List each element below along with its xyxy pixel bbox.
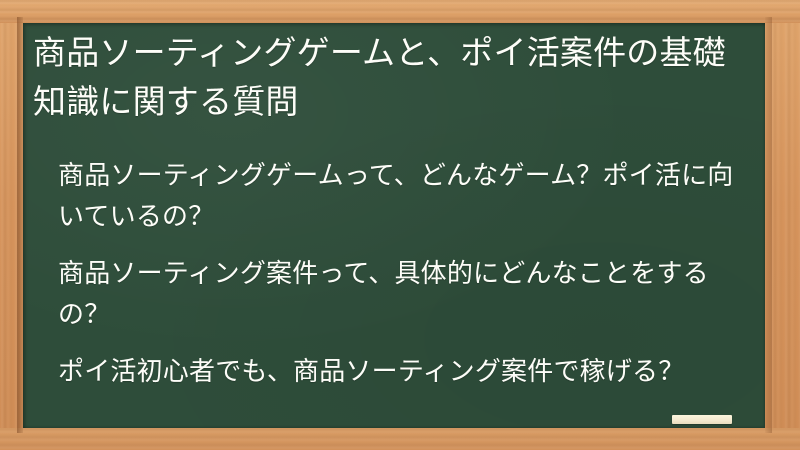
faq-question-item: 商品ソーティング案件って、具体的にどんなことをするの？ [58, 253, 748, 335]
faq-question-item: ポイ活初心者でも、商品ソーティング案件で稼げる？ [58, 351, 748, 392]
blackboard-frame: 商品ソーティングゲームと、ポイ活案件の基礎知識に関する質問 商品ソーティングゲー… [0, 0, 800, 450]
board-content: 商品ソーティングゲームと、ポイ活案件の基礎知識に関する質問 商品ソーティングゲー… [23, 23, 765, 428]
chalk-stick [672, 415, 732, 424]
faq-question-item: 商品ソーティングゲームって、どんなゲーム？ポイ活に向いているの？ [58, 155, 748, 237]
faq-title: 商品ソーティングゲームと、ポイ活案件の基礎知識に関する質問 [33, 28, 749, 126]
frame-inner-bevel-right [765, 17, 772, 433]
frame-bottom-ledge [0, 428, 800, 450]
frame-top-rail [0, 0, 800, 23]
chalkboard-surface: 商品ソーティングゲームと、ポイ活案件の基礎知識に関する質問 商品ソーティングゲー… [23, 23, 765, 428]
faq-question-list: 商品ソーティングゲームって、どんなゲーム？ポイ活に向いているの？ 商品ソーティン… [58, 155, 748, 392]
